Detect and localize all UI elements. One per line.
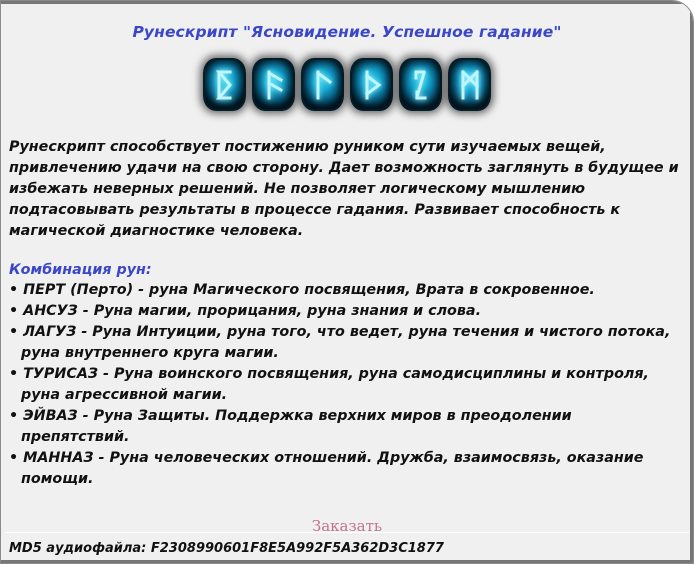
- combination-heading: Комбинация рун:: [9, 262, 685, 278]
- combination-list: ПЕРТ (Перто) - руна Магического посвящен…: [9, 280, 685, 490]
- md5-checksum-text: MD5 аудиофайла: F2308990601F8E5A992F5A36…: [9, 541, 444, 556]
- order-link-container: Заказать: [1, 516, 693, 535]
- rune-row: [1, 58, 693, 111]
- list-item: ЛАГУЗ - Руна Интуиции, руна того, что ве…: [9, 322, 685, 364]
- list-item: ПЕРТ (Перто) - руна Магического посвящен…: [9, 280, 685, 301]
- list-item: АНСУЗ - Руна магии, прорицания, руна зна…: [9, 301, 685, 322]
- rune-perthro: [203, 58, 246, 111]
- runescript-card: Рунескрипт "Ясновидение. Успешное гадани…: [0, 0, 694, 564]
- card-bottom-edge: [1, 560, 693, 563]
- list-item: ЭЙВАЗ - Руна Защиты. Поддержка верхних м…: [9, 406, 685, 448]
- rune-ansuz: [252, 58, 295, 111]
- page-title: Рунескрипт "Ясновидение. Успешное гадани…: [1, 1, 693, 41]
- order-link[interactable]: Заказать: [312, 517, 382, 535]
- rune-mannaz: [448, 58, 491, 111]
- list-item: МАННАЗ - Руна человеческих отношений. Др…: [9, 448, 685, 490]
- list-item: ТУРИСАЗ - Руна воинского посвящения, рун…: [9, 364, 685, 406]
- rune-thurisaz: [350, 58, 393, 111]
- rune-eihwaz: [399, 58, 442, 111]
- rune-laguz: [301, 58, 344, 111]
- description-paragraph: Рунескрипт способствует постижению руник…: [9, 137, 685, 242]
